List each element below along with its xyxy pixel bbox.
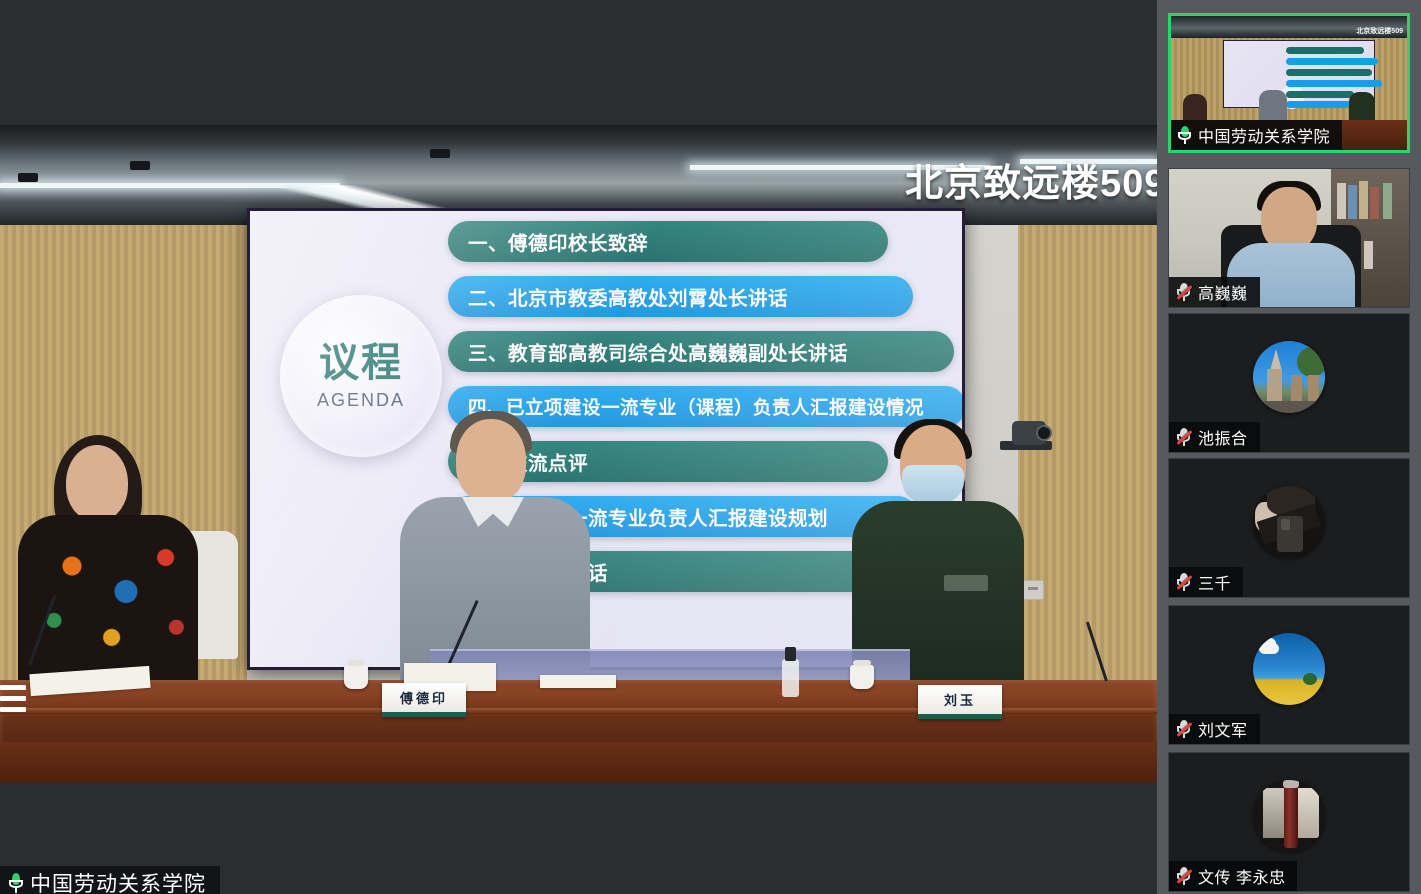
participant-name: 三千 — [1198, 570, 1231, 594]
shirt-logo — [944, 575, 988, 591]
avatar — [1253, 486, 1325, 558]
avatar — [1253, 341, 1325, 413]
avatar — [1253, 780, 1325, 852]
agenda-item: 一、傅德印校长致辞 — [448, 221, 888, 262]
face-mask — [902, 465, 964, 503]
person-left — [18, 445, 198, 685]
participant-name: 池振合 — [1198, 425, 1248, 449]
list-icon[interactable] — [0, 684, 24, 714]
participant-tile[interactable]: 池振合 — [1168, 313, 1410, 453]
hand-sanitizer — [782, 659, 799, 697]
participant-name: 中国劳动关系学院 — [1198, 123, 1330, 147]
microphone-muted-icon — [1176, 427, 1192, 447]
room-location-overlay: 北京致远楼509 — [905, 152, 1157, 207]
nameplate: 刘玉 — [918, 685, 1002, 719]
head — [66, 445, 128, 521]
agenda-item: 三、教育部高教司综合处高巍巍副处长讲话 — [448, 331, 954, 372]
stage-speaker-name: 中国劳动关系学院 — [30, 868, 206, 894]
avatar — [1253, 633, 1325, 705]
participant-label: 文传 李永忠 — [1169, 861, 1297, 891]
main-stage[interactable]: 议程 AGENDA 一、傅德印校长致辞 二、北京市教委高教处刘霄处长讲话 三、教… — [0, 0, 1157, 894]
agenda-item: 二、北京市教委高教处刘霄处长讲话 — [448, 276, 913, 317]
participant-label: 高巍巍 — [1169, 277, 1260, 307]
desk-front — [0, 742, 1157, 782]
participant-label: 刘文军 — [1169, 714, 1260, 744]
video-conference-window: 议程 AGENDA 一、傅德印校长致辞 二、北京市教委高教处刘霄处长讲话 三、教… — [0, 0, 1421, 894]
participant-label: 池振合 — [1169, 422, 1260, 452]
participant-name: 高巍巍 — [1198, 280, 1248, 304]
documents — [540, 675, 616, 688]
person-center — [400, 415, 590, 685]
participant-label: 三千 — [1169, 567, 1243, 597]
participant-tile[interactable]: 刘文军 — [1168, 605, 1410, 745]
stage-speaker-label: 中国劳动关系学院 — [0, 866, 220, 894]
microphone-unmuted-icon — [1178, 125, 1192, 145]
participant-name: 刘文军 — [1198, 717, 1248, 741]
mini-room-label: 北京致远楼509 — [1356, 26, 1403, 36]
microphone-muted-icon — [1176, 719, 1192, 739]
participant-tile-active[interactable]: 北京致远楼509 中国劳动关系学院 — [1168, 13, 1410, 153]
microphone-muted-icon — [1176, 866, 1192, 886]
participant-tile[interactable]: 文传 李永忠 — [1168, 752, 1410, 892]
participant-filmstrip[interactable]: 北京致远楼509 中国劳动关系学院 — [1157, 0, 1421, 894]
participant-tile[interactable]: 高巍巍 — [1168, 168, 1410, 308]
floral-blouse — [18, 515, 198, 685]
participant-tile[interactable]: 三千 — [1168, 458, 1410, 598]
room-camera-lens — [1036, 425, 1052, 441]
tea-cup — [850, 665, 874, 689]
agenda-badge-en: AGENDA — [317, 390, 405, 411]
nameplate-text: 刘玉 — [944, 690, 976, 709]
person-right — [852, 425, 1024, 685]
nameplate: 傅德印 — [382, 683, 466, 717]
agenda-badge-cn: 议程 — [319, 342, 403, 384]
tea-cup — [344, 665, 368, 689]
microphone-unmuted-icon — [8, 872, 24, 894]
microphone-muted-icon — [1176, 572, 1192, 592]
shared-screen-video[interactable]: 议程 AGENDA 一、傅德印校长致辞 二、北京市教委高教处刘霄处长讲话 三、教… — [0, 125, 1157, 782]
participant-label: 中国劳动关系学院 — [1171, 120, 1342, 150]
head — [456, 419, 526, 503]
participant-name: 文传 李永忠 — [1198, 864, 1285, 888]
microphone-muted-icon — [1176, 282, 1192, 302]
nameplate-text: 傅德印 — [400, 688, 448, 707]
